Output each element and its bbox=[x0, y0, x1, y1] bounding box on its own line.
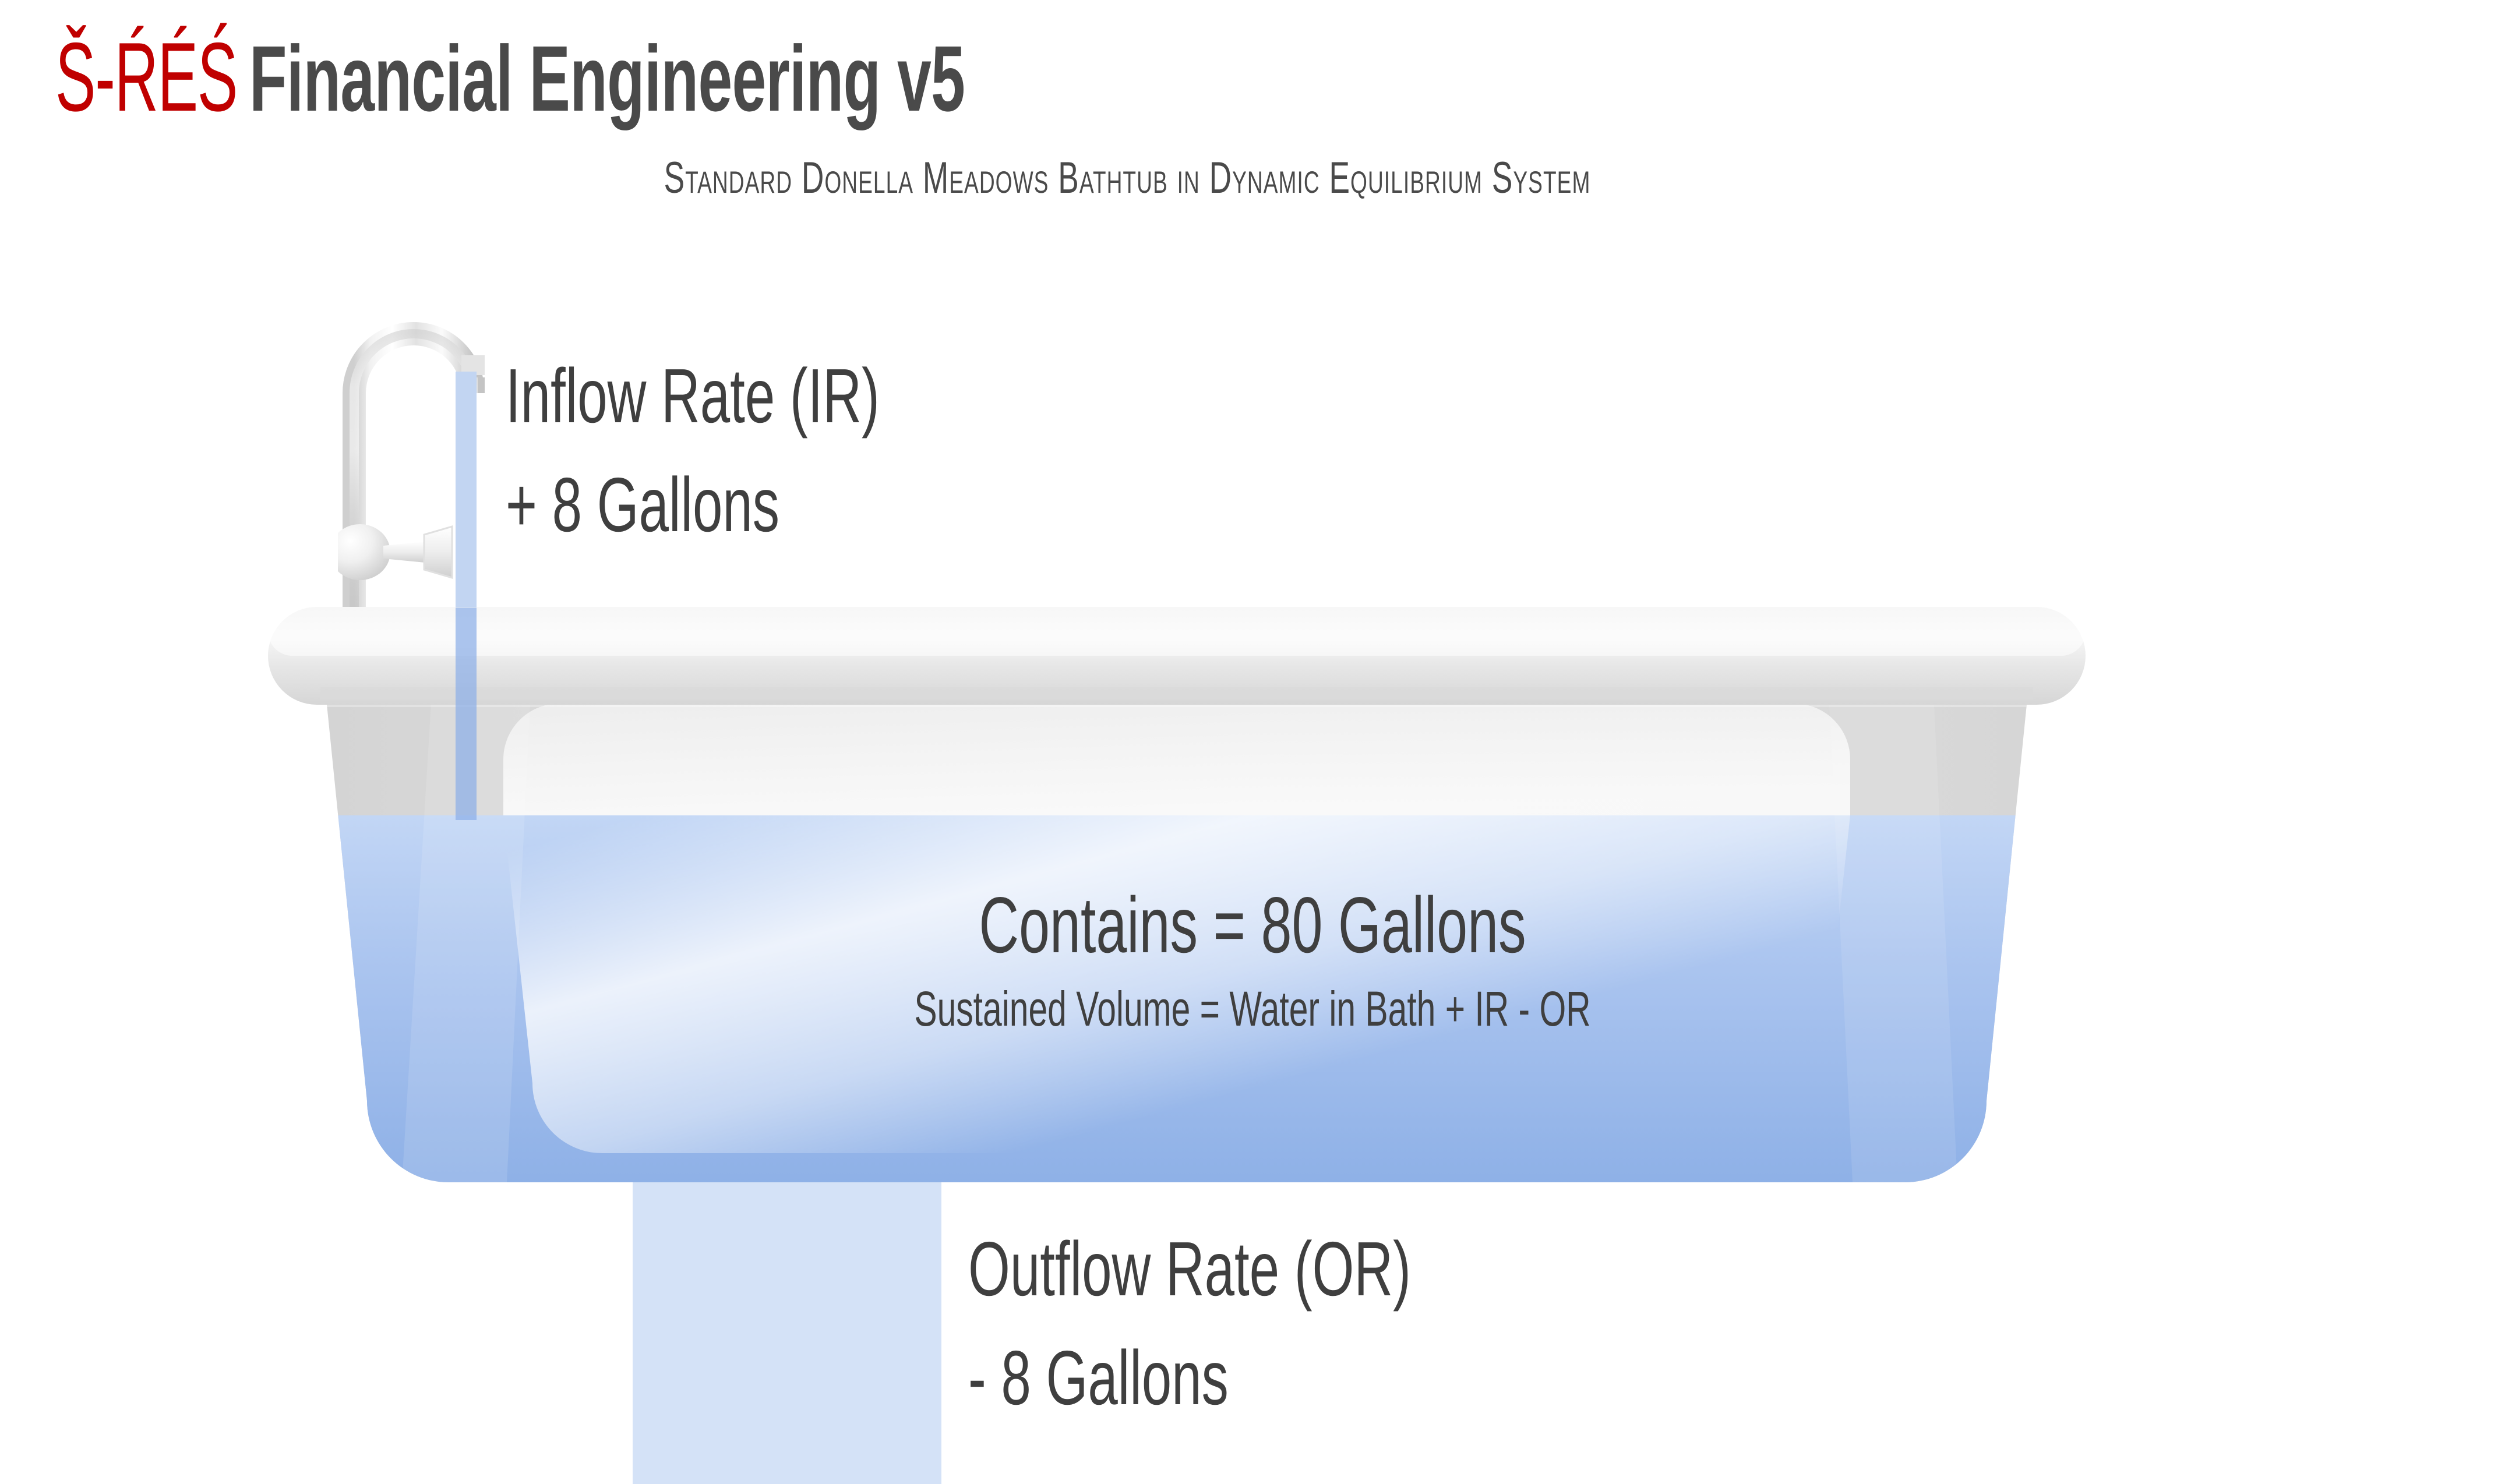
title-row: Š-ŔÉŚ Financial Engineering v5 bbox=[55, 28, 1333, 126]
outflow-water-stream bbox=[633, 1182, 941, 1484]
slide-canvas: Š-ŔÉŚ Financial Engineering v5 Standard … bbox=[0, 0, 2505, 1484]
inflow-value: + 8 Gallons bbox=[506, 450, 880, 559]
faucet-icon bbox=[338, 291, 513, 623]
outflow-value: - 8 Gallons bbox=[968, 1323, 1411, 1432]
inflow-water-stream-inside-tub bbox=[456, 607, 477, 820]
inflow-label: Inflow Rate (IR) bbox=[506, 341, 880, 450]
page-subtitle: Standard Donella Meadows Bathtub in Dyna… bbox=[338, 156, 1917, 200]
page-title: Financial Engineering v5 bbox=[249, 32, 965, 125]
brand-logo-text: Š-ŔÉŚ bbox=[55, 28, 237, 126]
inflow-label-group: Inflow Rate (IR) + 8 Gallons bbox=[506, 341, 880, 560]
outflow-label: Outflow Rate (OR) bbox=[968, 1214, 1411, 1323]
slide-header: Š-ŔÉŚ Financial Engineering v5 Standard … bbox=[0, 0, 2505, 221]
bathtub-graphic bbox=[256, 600, 2097, 1200]
outflow-label-group: Outflow Rate (OR) - 8 Gallons bbox=[968, 1214, 1411, 1433]
